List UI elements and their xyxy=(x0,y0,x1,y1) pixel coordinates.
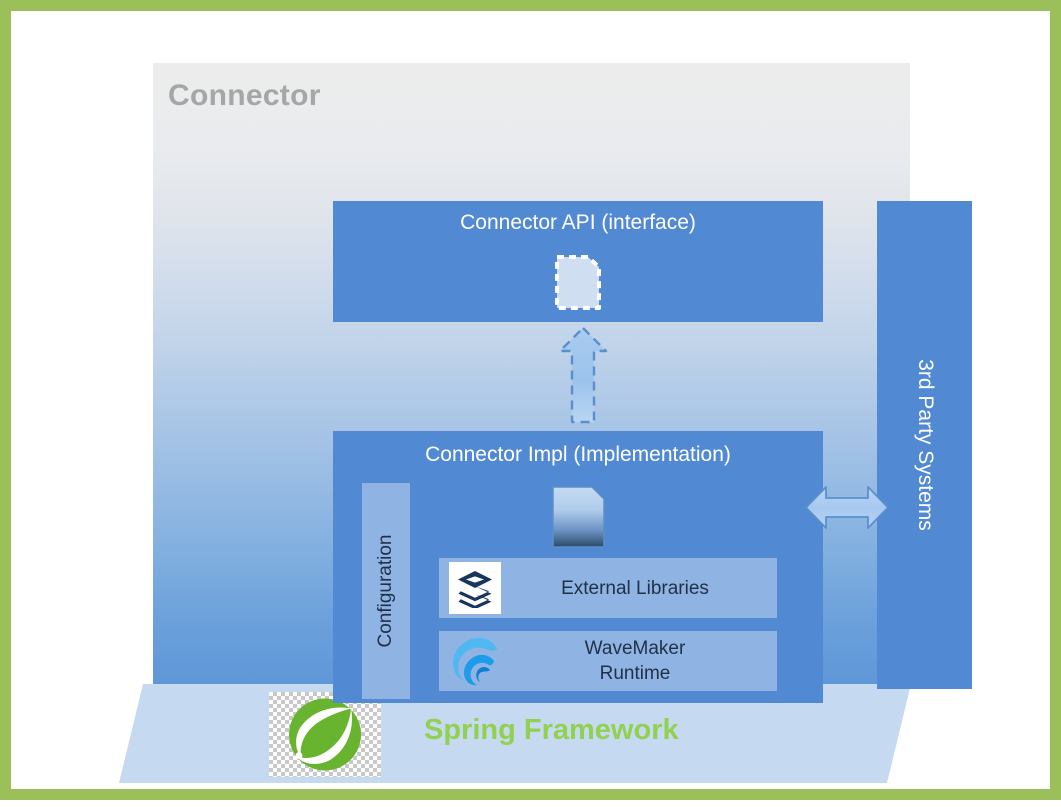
spring-framework-label: Spring Framework xyxy=(424,714,679,747)
connector-api-block[interactable]: Connector API (interface) xyxy=(333,201,823,322)
third-party-systems-label: 3rd Party Systems xyxy=(913,359,937,531)
diagram-canvas: Spring Framework Connector Connector API… xyxy=(11,11,1061,811)
configuration-label: Configuration xyxy=(375,534,397,647)
wavemaker-runtime-label: WaveMaker Runtime xyxy=(501,636,777,686)
page-title: Connector xyxy=(168,79,321,113)
connector-panel: Connector Connector API (interface) xyxy=(153,63,910,684)
connector-api-label: Connector API (interface) xyxy=(333,211,823,235)
external-libraries-label: External Libraries xyxy=(501,576,777,601)
wavemaker-runtime-label-line2: Runtime xyxy=(501,661,769,686)
dashed-document-icon xyxy=(554,254,602,311)
bidirectional-arrow-icon xyxy=(804,481,890,534)
list-item-wavemaker-runtime[interactable]: WaveMaker Runtime xyxy=(439,631,777,691)
layers-stack-icon xyxy=(449,562,501,614)
third-party-systems-block[interactable]: 3rd Party Systems xyxy=(877,201,972,689)
slide-frame: Spring Framework Connector Connector API… xyxy=(0,0,1061,800)
connector-impl-label: Connector Impl (Implementation) xyxy=(333,443,823,467)
up-arrow-icon xyxy=(557,325,609,425)
configuration-block[interactable]: Configuration xyxy=(362,483,410,699)
wavemaker-wave-glyph xyxy=(449,635,501,687)
spring-leaf-logo-icon xyxy=(269,692,381,777)
layers-stack-glyph xyxy=(455,568,495,608)
spring-logo xyxy=(269,692,381,777)
wavemaker-runtime-label-line1: WaveMaker xyxy=(501,636,769,661)
document-icon xyxy=(551,485,606,549)
wavemaker-logo-icon xyxy=(449,635,501,687)
list-item-external-libraries[interactable]: External Libraries xyxy=(439,558,777,618)
